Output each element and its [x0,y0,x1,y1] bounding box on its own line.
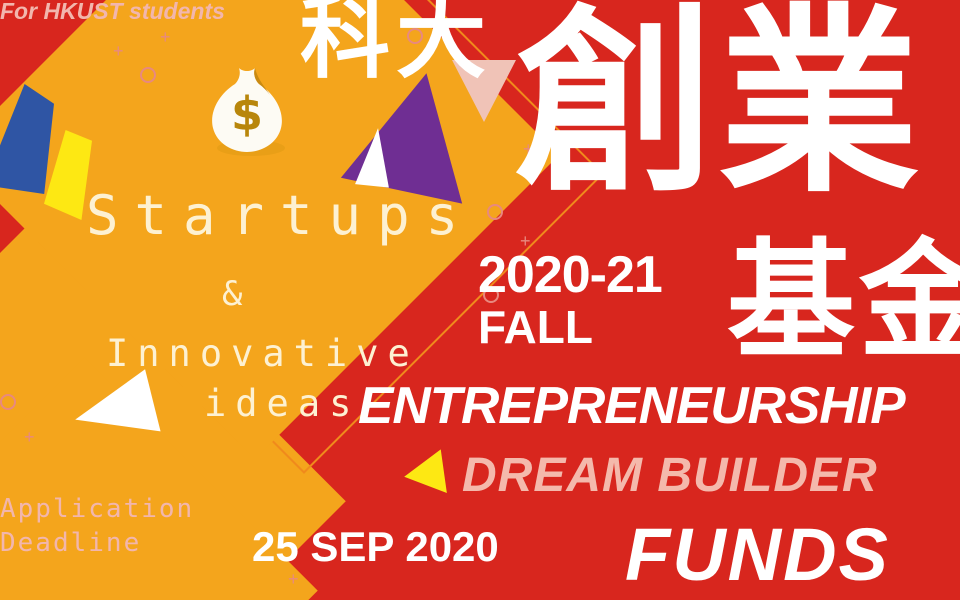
academic-year-label: 2020-21 [478,245,662,305]
poster-canvas: + + + + + + $ For HKUST students 科大 創業 基… [0,0,960,600]
audience-note: For HKUST students [0,0,225,25]
ampersand-label: & [222,274,242,314]
application-deadline-label: Application Deadline [0,492,194,560]
headline-entrepreneurship: ENTREPRENEURSHIP [358,376,905,436]
text-layer: For HKUST students 科大 創業 基金 Startups & I… [0,0,960,600]
application-deadline-line1: Application [0,492,194,526]
funds-word: FUNDS [625,512,890,597]
subheadline-dream-builder: DREAM BUILDER [462,448,878,503]
cjk-title-fund: 基金 [727,238,960,366]
cjk-title-entrepreneurship: 創業 [515,4,923,204]
application-deadline-line2: Deadline [0,526,194,560]
startups-label: Startups [86,184,474,247]
innovative-ideas-line1: Innovative [106,332,419,375]
innovative-ideas-line2: ideas [204,382,360,425]
deadline-date-value: 25 SEP 2020 [252,523,499,571]
cjk-title-hkust: 科大 [300,0,492,84]
term-label: FALL [478,300,593,354]
